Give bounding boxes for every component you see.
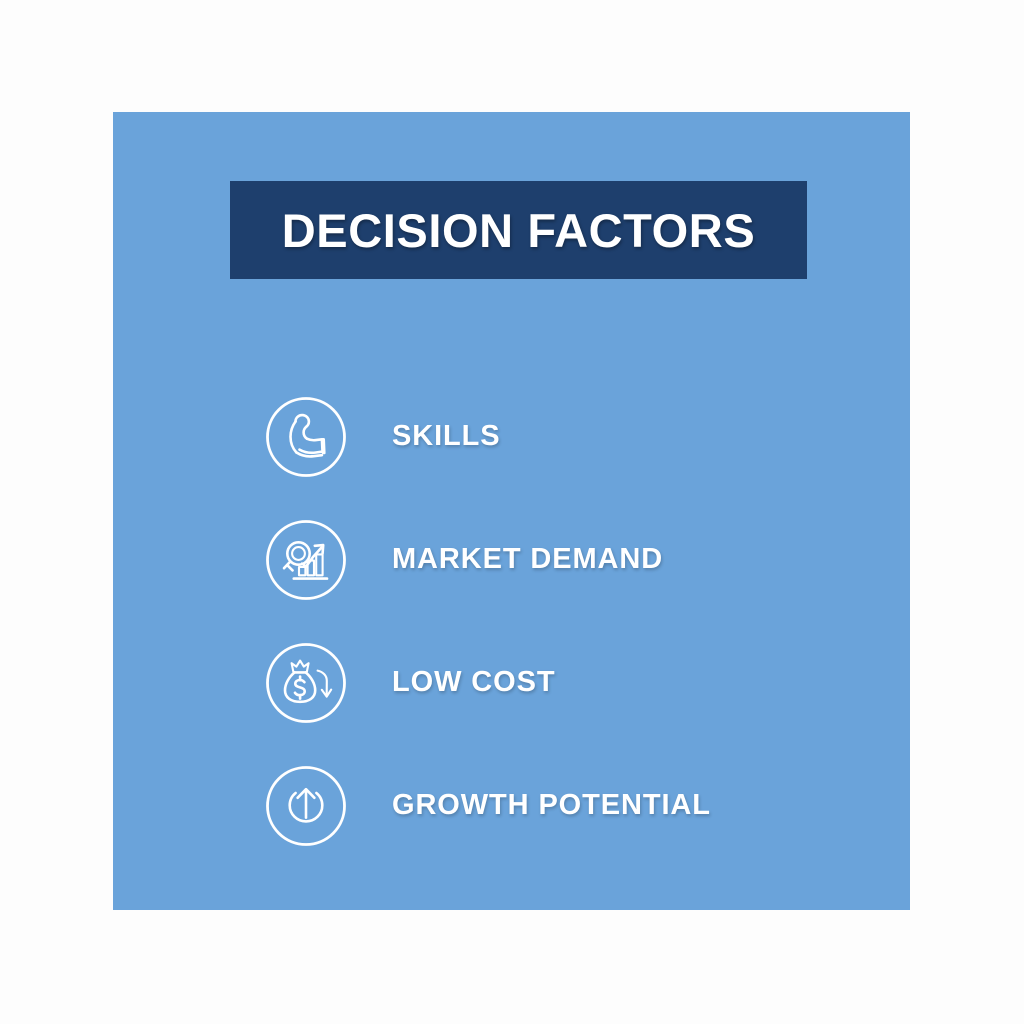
decision-factors-card: DECISION FACTORS SKILLS [113,112,910,910]
factor-label: MARKET DEMAND [392,545,663,574]
magnifier-bar-chart-growth-icon [265,519,347,601]
factor-item-market-demand[interactable]: MARKET DEMAND [265,498,905,621]
poster-canvas: DECISION FACTORS SKILLS [0,0,1024,1024]
up-arrow-circle-icon [265,765,347,847]
page-title: DECISION FACTORS [282,207,756,254]
factor-item-growth-potential[interactable]: GROWTH POTENTIAL [265,744,905,867]
factor-label: SKILLS [392,422,501,451]
factor-label: LOW COST [392,668,555,697]
money-bag-down-arrow-icon [265,642,347,724]
flexed-bicep-icon [265,396,347,478]
factor-item-low-cost[interactable]: LOW COST [265,621,905,744]
factor-item-skills[interactable]: SKILLS [265,375,905,498]
title-banner: DECISION FACTORS [230,181,807,279]
factor-label: GROWTH POTENTIAL [392,791,711,820]
factor-list: SKILLS [265,375,905,867]
